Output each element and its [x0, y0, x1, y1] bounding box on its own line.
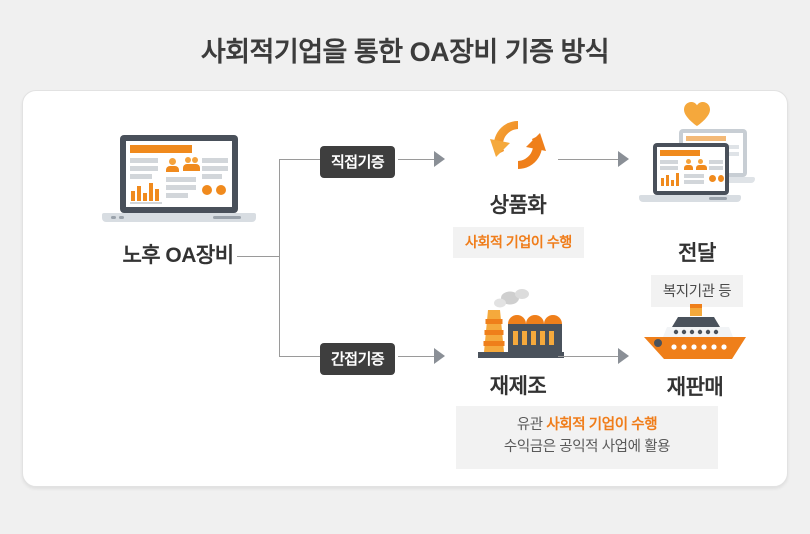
node-remanufacture: 재제조: [453, 286, 583, 400]
connector-badge-to-step1-bottom: [398, 356, 434, 357]
arrow-head-bottom-1: [434, 348, 445, 364]
stage-badge-indirect: 간접기증: [320, 343, 395, 375]
node-commercialize-caption: 사회적 기업이 수행: [453, 227, 584, 258]
connector-trunk: [237, 256, 279, 257]
node-remanufacture-label: 재제조: [453, 370, 583, 400]
page-title: 사회적기업을 통한 OA장비 기증 방식: [0, 30, 810, 69]
heart-icon: [683, 101, 711, 127]
factory-icon: [468, 286, 568, 366]
stage-badge-direct: 직접기증: [320, 146, 395, 178]
node-source: 노후 OA장비: [98, 131, 258, 269]
node-resale: 재판매: [627, 301, 763, 401]
bottom-note-line2: 수익금은 공익적 사업에 활용: [456, 436, 718, 458]
node-delivery: 전달 복지기관 등: [631, 101, 763, 307]
laptop-dashboard-icon: [98, 131, 258, 231]
recycle-arrows-svg: [486, 113, 550, 177]
node-source-label: 노후 OA장비: [98, 239, 258, 269]
node-commercialize: 상품화 사회적 기업이 수행: [453, 113, 583, 258]
factory-svg: [468, 286, 568, 366]
arrow-head-top-1: [434, 151, 445, 167]
connector-step1-to-step2-bottom: [558, 356, 618, 357]
diagram-card: 노후 OA장비 직접기증 상품화 사회적: [22, 90, 788, 487]
bottom-note-line1-prefix: 유관: [517, 417, 547, 433]
node-commercialize-label: 상품화: [453, 189, 583, 219]
ship-icon: [640, 301, 750, 367]
ship-svg: [640, 301, 750, 367]
connector-badge-to-step1-top: [398, 159, 434, 160]
node-delivery-label: 전달: [631, 237, 763, 267]
recycle-arrows-icon: [486, 113, 550, 177]
heart-svg: [683, 101, 711, 127]
connector-step1-to-step2-top: [558, 159, 618, 160]
bottom-note-line1: 유관 사회적 기업이 수행: [456, 414, 718, 436]
laptop-front-icon: [639, 143, 741, 209]
node-resale-label: 재판매: [627, 371, 763, 401]
bottom-note: 유관 사회적 기업이 수행 수익금은 공익적 사업에 활용: [456, 406, 718, 469]
arrow-head-top-2: [618, 151, 629, 167]
connector-split: [279, 159, 280, 357]
bottom-note-line1-accent: 사회적 기업이 수행: [546, 417, 657, 433]
